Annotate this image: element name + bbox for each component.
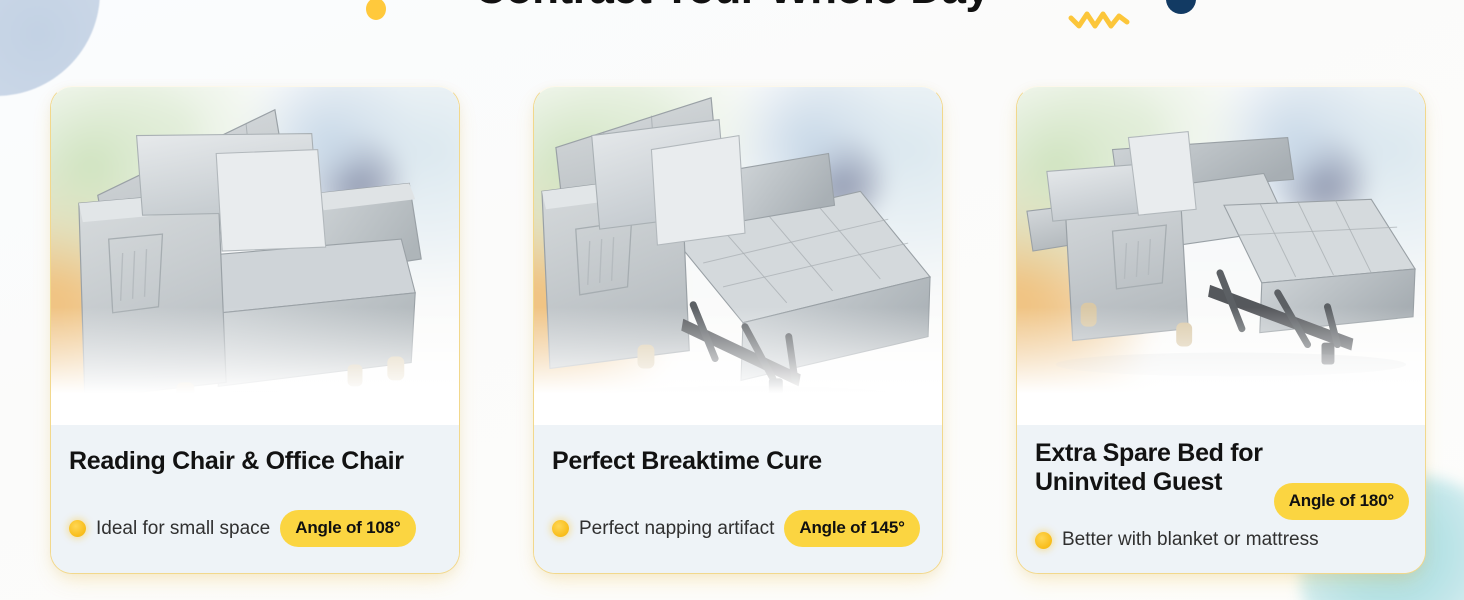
card-bullet-row: Ideal for small space Angle of 108°	[69, 510, 443, 547]
feature-card-breaktime-cure[interactable]: Perfect Breaktime Cure Perfect napping a…	[533, 86, 943, 574]
angle-badge: Angle of 108°	[280, 510, 415, 547]
angle-badge: Angle of 180°	[1274, 483, 1409, 520]
bullet-dot-icon	[552, 520, 569, 537]
card-footer-spare-bed: Extra Spare Bed for Uninvited Guest Angl…	[1017, 425, 1425, 573]
card-bullet-row: Better with blanket or mattress	[1035, 529, 1409, 551]
bullet-dot-icon	[69, 520, 86, 537]
feature-card-reading-chair[interactable]: Reading Chair & Office Chair Ideal for s…	[50, 86, 460, 574]
card-footer-breaktime-cure: Perfect Breaktime Cure Perfect napping a…	[534, 425, 942, 573]
card-title: Reading Chair & Office Chair	[69, 447, 441, 476]
card-bullet-text: Ideal for small space	[96, 518, 270, 540]
product-photo-breaktime-cure	[534, 87, 942, 427]
card-title-line-1: Extra Spare Bed for	[1035, 439, 1407, 468]
photo-bottom-fade	[51, 307, 459, 427]
card-bullet-text: Perfect napping artifact	[579, 518, 774, 540]
decorative-blue-circle-icon	[0, 0, 100, 96]
card-title: Perfect Breaktime Cure	[552, 447, 924, 476]
card-bullet-text: Better with blanket or mattress	[1062, 529, 1319, 551]
card-bullet-row: Perfect napping artifact Angle of 145°	[552, 510, 926, 547]
angle-badge: Angle of 145°	[784, 510, 919, 547]
feature-card-list: Reading Chair & Office Chair Ideal for s…	[50, 86, 1426, 576]
page-title: Contract Your Whole Day	[0, 0, 1464, 14]
photo-bottom-fade	[534, 307, 942, 427]
product-photo-reading-chair	[51, 87, 459, 427]
infographic-page: Contract Your Whole Day	[0, 0, 1464, 600]
card-footer-reading-chair: Reading Chair & Office Chair Ideal for s…	[51, 425, 459, 573]
bullet-dot-icon	[1035, 532, 1052, 549]
product-photo-spare-bed	[1017, 87, 1425, 427]
photo-bottom-fade	[1017, 307, 1425, 427]
feature-card-spare-bed[interactable]: Extra Spare Bed for Uninvited Guest Angl…	[1016, 86, 1426, 574]
